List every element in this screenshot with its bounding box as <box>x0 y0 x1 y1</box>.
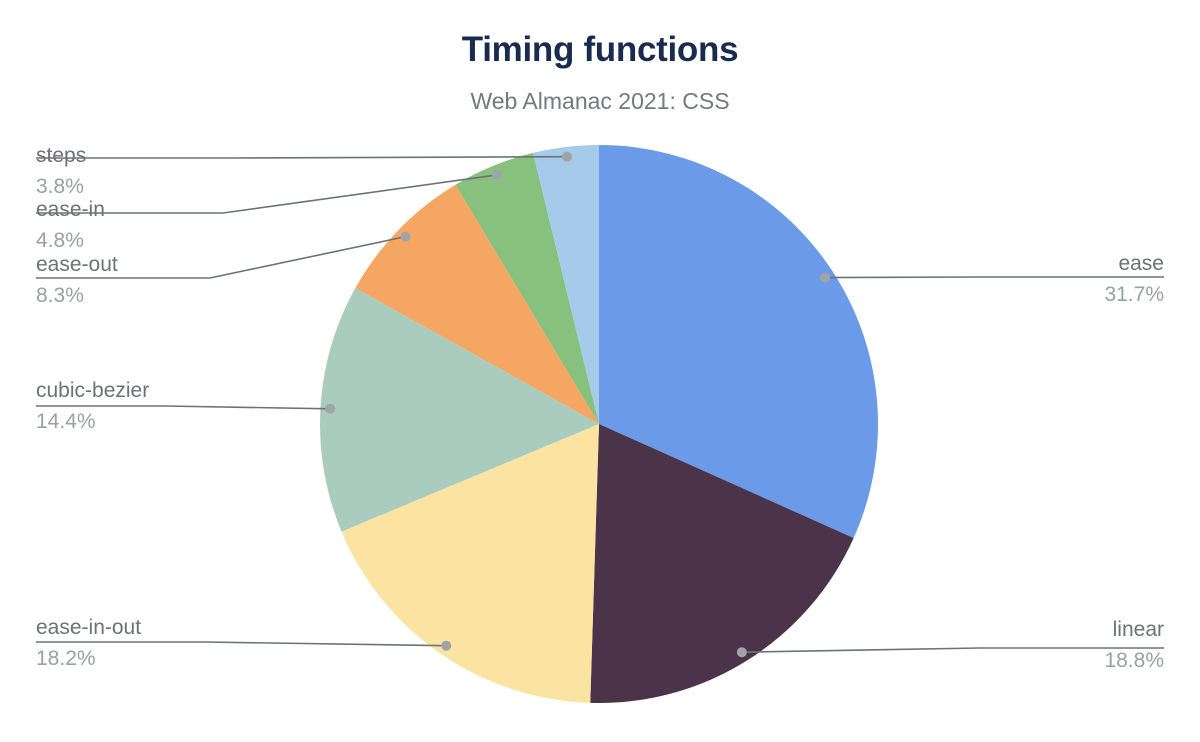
slice-label-ease-value: 31.7% <box>1104 279 1164 309</box>
leader-dot-ease-in <box>492 170 502 180</box>
slice-label-linear: linear 18.8% <box>1104 616 1164 674</box>
chart-canvas: Timing functions Web Almanac 2021: CSS s… <box>0 0 1200 742</box>
leader-dot-steps <box>562 152 572 162</box>
slice-label-steps: steps 3.8% <box>36 142 86 200</box>
slice-label-cubic-bezier-value: 14.4% <box>36 406 149 436</box>
slice-label-ease-in-name: ease-in <box>36 196 105 225</box>
slice-label-ease-in-value: 4.8% <box>36 225 105 255</box>
slice-label-ease-name: ease <box>1104 250 1164 279</box>
slice-label-ease-in-out: ease-in-out 18.2% <box>36 614 141 672</box>
slice-label-linear-value: 18.8% <box>1104 645 1164 675</box>
slice-label-linear-name: linear <box>1104 616 1164 645</box>
slice-label-ease: ease 31.7% <box>1104 250 1164 308</box>
slice-label-cubic-bezier: cubic-bezier 14.4% <box>36 377 149 435</box>
slice-label-ease-in-out-value: 18.2% <box>36 643 141 673</box>
pie-chart <box>0 0 1200 742</box>
leader-line-steps <box>36 157 567 158</box>
leader-dot-linear <box>737 647 747 657</box>
slice-label-ease-in: ease-in 4.8% <box>36 196 105 254</box>
pie-slice-group[interactable] <box>320 145 878 703</box>
slice-label-ease-out-name: ease-out <box>36 251 118 280</box>
slice-label-ease-out: ease-out 8.3% <box>36 251 118 309</box>
slice-label-ease-in-out-name: ease-in-out <box>36 614 141 643</box>
leader-dot-ease-out <box>401 232 411 242</box>
leader-dot-ease <box>820 273 830 283</box>
leader-dot-cubic-bezier <box>325 404 335 414</box>
leader-dot-ease-in-out <box>441 641 451 651</box>
slice-label-steps-name: steps <box>36 142 86 171</box>
leader-line-linear <box>742 648 1164 652</box>
slice-label-ease-out-value: 8.3% <box>36 280 118 310</box>
slice-label-cubic-bezier-name: cubic-bezier <box>36 377 149 406</box>
